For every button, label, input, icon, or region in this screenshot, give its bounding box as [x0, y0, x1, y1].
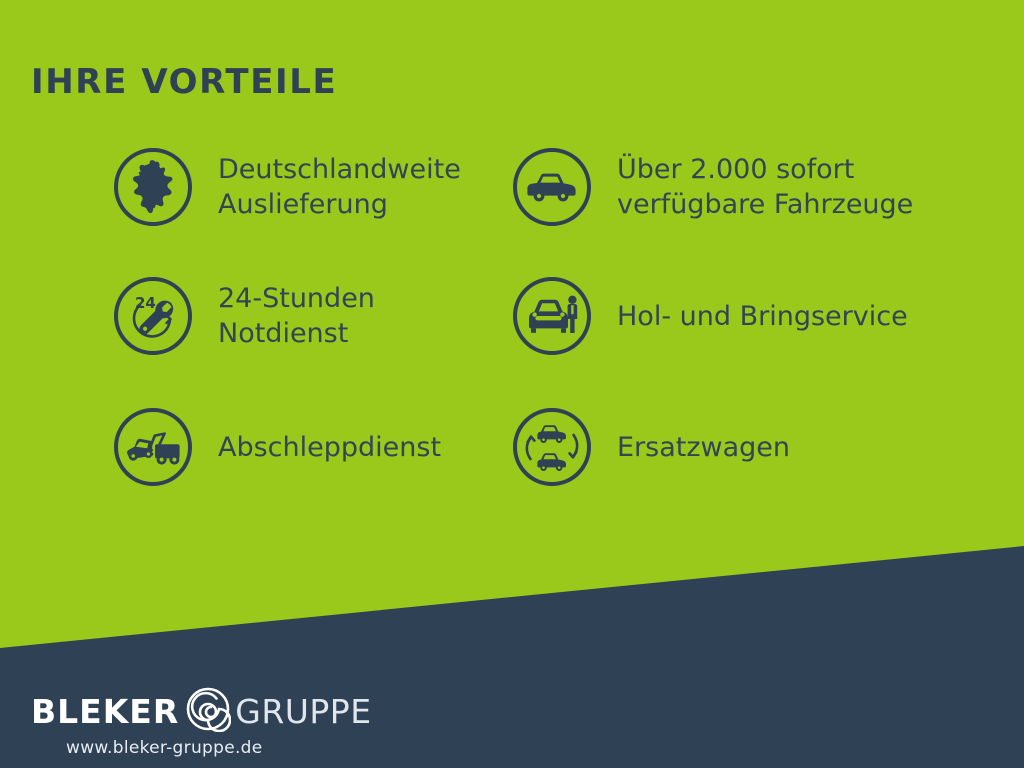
car-side-icon	[513, 148, 591, 226]
logo-secondary-text: GRUPPE	[235, 695, 371, 728]
benefit-label: Ersatzwagen	[617, 430, 790, 465]
benefit-item-ersatzwagen: Ersatzwagen	[513, 408, 790, 486]
benefit-label: 24-Stunden Notdienst	[218, 281, 375, 351]
benefit-item-abschleppdienst: Abschleppdienst	[114, 408, 441, 486]
two-cars-exchange-icon	[513, 408, 591, 486]
page-title: IHRE VORTEILE	[31, 62, 337, 102]
bleker-spiral-logo-icon	[185, 686, 231, 736]
car-with-person-icon	[513, 277, 591, 355]
benefit-label: Über 2.000 sofort verfügbare Fahrzeuge	[617, 152, 913, 222]
benefit-label: Deutschlandweite Auslieferung	[218, 152, 461, 222]
brand-logo: BLEKER GRUPPE	[31, 690, 372, 732]
benefit-item-hol-und-bringservice: Hol- und Bringservice	[513, 277, 908, 355]
tow-truck-icon	[114, 408, 192, 486]
green-background-panel	[0, 0, 1024, 768]
benefit-item-24-stunden-notdienst: 24 24-Stunden Notdienst	[114, 277, 375, 355]
footer-logo-block: BLEKER GRUPPE www.bleker-gruppe.de	[31, 690, 372, 758]
24-hours-wrench-icon: 24	[114, 277, 192, 355]
benefit-label: Abschleppdienst	[218, 430, 441, 465]
slide-root: IHRE VORTEILE Deutschlandweite Ausliefer…	[0, 0, 1024, 768]
benefit-item-deutschlandweite-auslieferung: Deutschlandweite Auslieferung	[114, 148, 461, 226]
logo-primary-text: BLEKER	[31, 695, 179, 728]
germany-map-icon	[114, 148, 192, 226]
hours-badge-text: 24	[135, 294, 156, 312]
website-url: www.bleker-gruppe.de	[66, 738, 372, 758]
benefit-label: Hol- und Bringservice	[617, 299, 908, 334]
benefit-item-verfuegbare-fahrzeuge: Über 2.000 sofort verfügbare Fahrzeuge	[513, 148, 913, 226]
